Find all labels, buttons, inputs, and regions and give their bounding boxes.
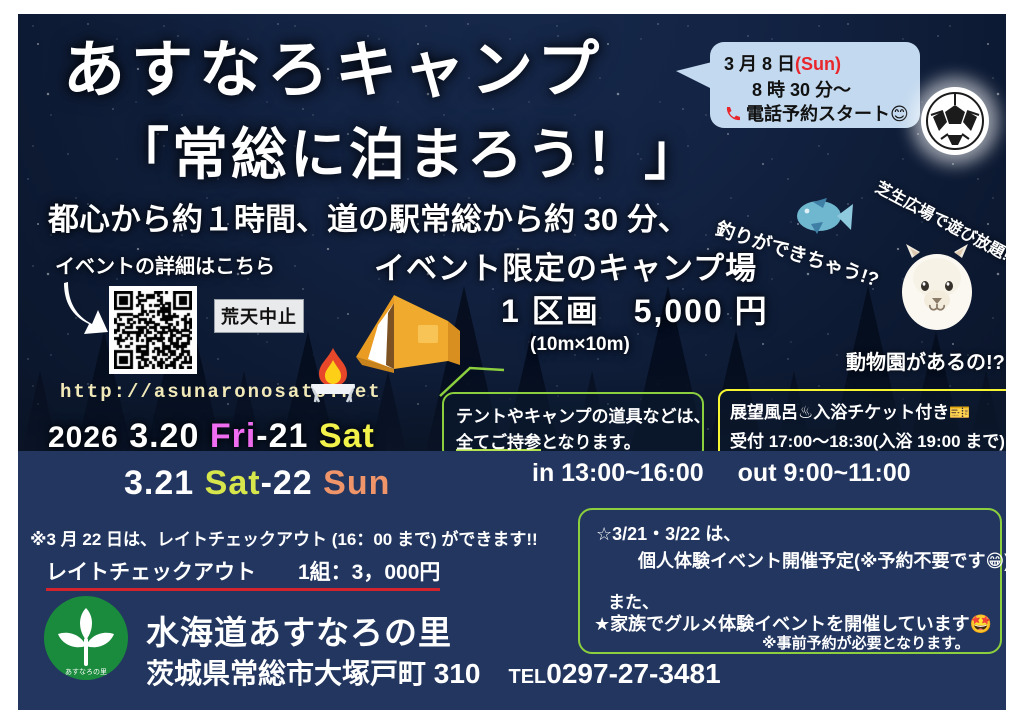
camp-price: 1 区画 5,000 円 (501, 295, 769, 327)
event-info-box: ☆3/21・3/22 は、 個人体験イベント開催予定(※予約不要です😁) また、… (578, 508, 1002, 654)
bath-ticket-box: 展望風呂♨入浴チケット付き🎫 受付 17:00〜18:30(入浴 19:00 ま… (718, 389, 1006, 451)
callout-pointer (434, 366, 514, 398)
bubble-date: 3 月 8 日 (724, 54, 795, 74)
poster-subtitle: 都心から約１時間、道の駅常総から約 30 分、 (48, 204, 689, 235)
annotation-zoo: 動物園があるの!? (846, 346, 1005, 375)
info-line5: ※事前予約が必要となります。 (762, 632, 970, 653)
late-checkout-price: レイトチェックアウト 1組：3，000円 (46, 556, 440, 591)
info-line2: 個人体験イベント開催予定(※予約不要です😁) (638, 547, 1010, 573)
camp-plot-size: (10m×10m) (530, 335, 630, 354)
date1-end-day: Sat (319, 417, 375, 451)
fish-icon (793, 196, 855, 238)
gear-notice-underlined: 全てご持参 (456, 433, 541, 451)
checkin-time: in 13:00~16:00 (532, 459, 704, 487)
late-checkout-note: ※3 月 22 日は、レイトチェックアウト (16：00 まで) ができます!! (30, 525, 538, 550)
bubble-line1: 3 月 8 日(Sun) (724, 50, 841, 76)
smile-emoji: 😊 (890, 104, 909, 124)
soccer-ball-icon (921, 87, 989, 155)
bubble-line3-text: 電話予約スタート (746, 104, 890, 124)
date1-start: 3.20 (129, 417, 199, 451)
alpaca-icon (894, 242, 980, 334)
poster-root: あすなろキャンプ 「常総に泊まろう！」 都心から約１時間、道の駅常総から約 30… (0, 0, 1024, 724)
arrow-icon (62, 280, 112, 338)
event-date-line-2: 3.21 Sat-22 Sun (124, 464, 390, 503)
date2-start-day: Sat (205, 464, 261, 502)
gear-notice-box: テントやキャンプの道具などは、 全てご持参となります。 (442, 392, 704, 451)
date2-end-day: Sun (323, 464, 390, 502)
night-sky-photo: あすなろキャンプ 「常総に泊まろう！」 都心から約１時間、道の駅常総から約 30… (18, 14, 1006, 451)
tent-icon (348, 291, 466, 375)
date1-dash: - (256, 417, 268, 451)
poster-title-line2: 「常総に泊まろう！」 (113, 127, 703, 183)
organization-name: 水海道あすなろの里 (146, 606, 452, 654)
qr-lead-text: イベントの詳細はこちら (55, 257, 275, 277)
date1-year: 2026 (48, 421, 119, 451)
phone-reservation-bubble: 3 月 8 日(Sun) 8 時 30 分〜 電話予約スタート😊 (710, 42, 920, 128)
address-text: 茨城県常総市大塚戸町 310 (146, 658, 509, 689)
camp-limited-text: イベント限定のキャンプ場 (374, 253, 757, 284)
gear-notice-rest: となります。 (541, 433, 641, 451)
tel-label: TEL (509, 666, 547, 688)
gear-notice-line2: 全てご持参となります。 (456, 428, 641, 451)
checkin-checkout-times: in 13:00~16:00out 9:00~11:00 (532, 459, 911, 488)
gear-notice-line1: テントやキャンプの道具などは、 (456, 402, 711, 427)
date2-start: 3.21 (124, 464, 194, 502)
lower-info-panel: 3.21 Sat-22 Sun in 13:00~16:00out 9:00~1… (18, 451, 1006, 710)
event-date-line-1: 2026 3.20 Fri-21 Sat (48, 419, 375, 451)
phone-icon (724, 105, 741, 122)
bath-ticket-line2: 受付 17:00〜18:30(入浴 19:00 まで) (730, 427, 1005, 451)
date1-start-day: Fri (210, 417, 256, 451)
qr-code[interactable] (109, 286, 197, 374)
info-line1: ☆3/21・3/22 は、 (596, 520, 741, 546)
date2-dash: - (261, 464, 273, 502)
bubble-line2: 8 時 30 分〜 (752, 76, 851, 102)
date2-end: 22 (273, 464, 313, 502)
bubble-line3: 電話予約スタート😊 (724, 100, 909, 126)
bubble-day: (Sun) (795, 54, 841, 74)
qr-code-canvas (114, 291, 192, 369)
bath-ticket-line1: 展望風呂♨入浴チケット付き🎫 (730, 398, 970, 423)
asunaro-logo: あすなろの里 (42, 594, 130, 682)
status-badge-bad-weather: 荒天中止 (214, 299, 304, 333)
svg-text:あすなろの里: あすなろの里 (65, 668, 107, 676)
checkout-time: out 9:00~11:00 (738, 459, 911, 487)
date1-end: 21 (269, 417, 309, 451)
tel-number: 0297-27-3481 (546, 658, 720, 689)
poster-title-line1: あすなろキャンプ (63, 40, 605, 102)
organization-address: 茨城県常総市大塚戸町 310 TEL0297-27-3481 (146, 652, 721, 692)
bubble-tail (676, 62, 712, 89)
